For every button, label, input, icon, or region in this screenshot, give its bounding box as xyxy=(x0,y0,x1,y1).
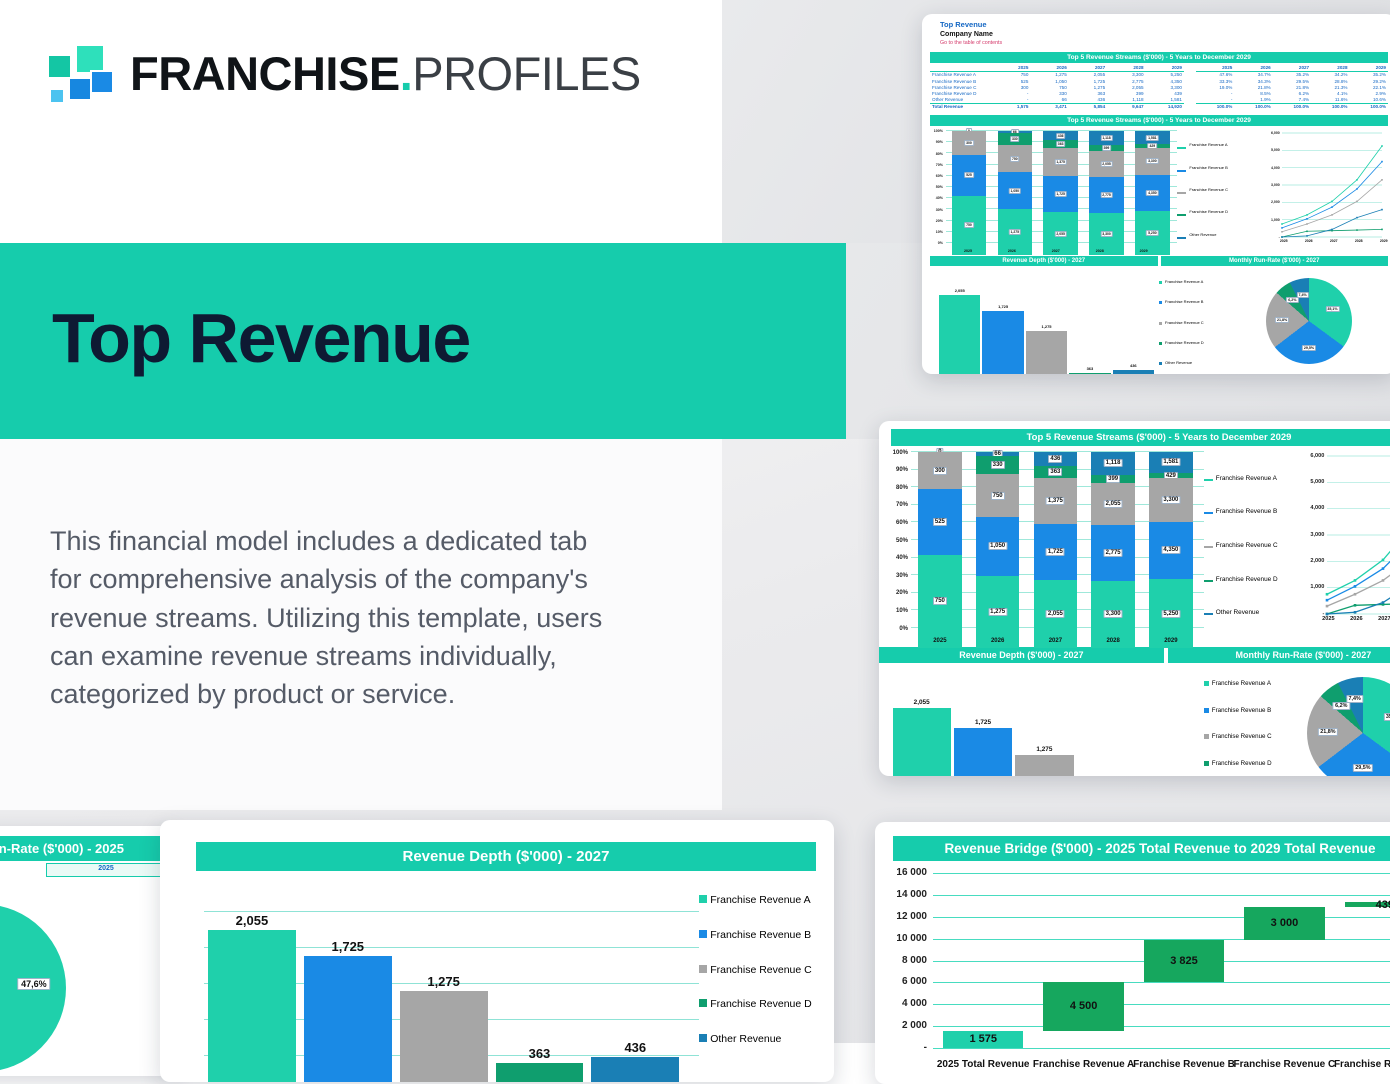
legend-label: Other Revenue xyxy=(710,1033,781,1046)
bar-value-label: 1,275 xyxy=(1009,229,1022,235)
bar-value-label: 4,350 xyxy=(1161,546,1180,554)
logo-squares-icon xyxy=(46,44,108,102)
pie-slice-label: 47,6% xyxy=(17,978,51,990)
bar-value-label: 2,055 xyxy=(236,913,269,928)
legend-item[interactable]: Franchise Revenue D xyxy=(699,998,834,1011)
bridge-y-tick: 4 000 xyxy=(875,998,927,1009)
band-revenue-depth: Revenue Depth ($'000) - 2027 xyxy=(930,256,1158,266)
line-y-tick: 1,000 xyxy=(1260,218,1280,222)
brand-logo: FRANCHISE.PROFILES xyxy=(46,44,641,102)
bar-value-label: 1,275 xyxy=(988,608,1007,616)
stacked-bar-column[interactable]: 0300525750 xyxy=(952,131,986,255)
waterfall-column[interactable]: 3 825 xyxy=(1144,873,1224,1048)
bridge-y-tick: 10 000 xyxy=(875,933,927,944)
sheet-header: Top Revenue Company Name Go to the table… xyxy=(930,20,1388,47)
brand-name-light: PROFILES xyxy=(412,47,640,100)
legend-item[interactable]: Franchise Revenue B xyxy=(1204,508,1294,516)
legend-label: Franchise Revenue C xyxy=(1189,188,1228,193)
bridge-y-tick: 12 000 xyxy=(875,911,927,922)
bridge-y-tick: - xyxy=(875,1042,927,1053)
bar-value-label: 436 xyxy=(1048,455,1062,463)
pie-year-tab[interactable]: 2025 xyxy=(46,863,166,877)
table-year-header-pct: 2026 xyxy=(1234,65,1272,72)
band-revenue-depth-zoom: Revenue Depth ($'000) - 2027 xyxy=(879,647,1164,663)
bar-value-label: 330 xyxy=(991,461,1005,469)
line-x-tick: 2027 xyxy=(1324,239,1344,243)
stacked-bar-column[interactable]: 1,5814293,3004,3505,250 xyxy=(1149,452,1192,648)
legend-item[interactable]: Franchise Revenue C xyxy=(1204,733,1305,741)
sheet-title: Top Revenue xyxy=(940,20,1388,30)
legend-item[interactable]: Franchise Revenue C xyxy=(1177,188,1259,194)
waterfall-column[interactable]: 1 575 xyxy=(943,873,1023,1048)
company-name: Company Name xyxy=(940,30,1388,39)
bar-value-label: 1,275 xyxy=(427,974,460,989)
legend-label: Franchise Revenue D xyxy=(1165,341,1204,346)
depth-bar[interactable]: 1,725 xyxy=(982,311,1023,374)
page-title: Top Revenue xyxy=(52,303,470,373)
depth-bar[interactable]: 363 xyxy=(1069,373,1110,374)
legend-item[interactable]: Franchise Revenue B xyxy=(1204,707,1305,715)
bar-value-label: 300 xyxy=(964,140,974,146)
bridge-y-tick: 8 000 xyxy=(875,955,927,966)
legend-label: Franchise Revenue D xyxy=(1216,576,1278,584)
bar-value-label: 750 xyxy=(933,597,947,605)
waterfall-column[interactable]: 3 000 xyxy=(1244,873,1324,1048)
band-monthly-runrate-zoom: Monthly Run-Rate ($'000) - 2027 xyxy=(1168,647,1390,663)
bridge-y-tick: 14 000 xyxy=(875,889,927,900)
legend-item[interactable]: Franchise Revenue B xyxy=(1159,300,1260,305)
band-revenue-table: Top 5 Revenue Streams ($'000) - 5 Years … xyxy=(930,52,1388,63)
bar-value-label: 525 xyxy=(964,172,974,178)
legend-label: Franchise Revenue C xyxy=(1165,321,1204,326)
depth-bar[interactable]: 1,275 xyxy=(1026,331,1067,374)
bar-value-label: 1,725 xyxy=(1054,191,1067,197)
dashboard-screenshot-card[interactable]: Top Revenue Company Name Go to the table… xyxy=(922,14,1390,374)
zoom-stacked-chart[interactable]: 0%10%20%30%40%50%60%70%80%90%100% 030052… xyxy=(879,448,1204,644)
legend-item[interactable]: Franchise Revenue A xyxy=(699,894,834,907)
bar-value-label: 525 xyxy=(933,518,947,526)
waterfall-value-label: 3 825 xyxy=(1170,955,1198,967)
legend-item[interactable]: Franchise Revenue C xyxy=(1159,321,1260,326)
legend-item[interactable]: Franchise Revenue A xyxy=(1159,280,1260,285)
bar-value-label: 1,118 xyxy=(1100,135,1112,141)
bar-value-label: 1,375 xyxy=(1054,159,1067,165)
waterfall-value-label: 4 500 xyxy=(1070,1000,1098,1012)
table-year-header: 2026 xyxy=(1030,65,1068,72)
stacked-bar-column[interactable]: 1,5814293,3004,3505,250 xyxy=(1135,131,1169,255)
monthly-runrate-pie-card[interactable]: Monthly Run-Rate ($'000) - 2025 2025 47,… xyxy=(0,826,176,1076)
legend-item[interactable]: Franchise Revenue D xyxy=(1204,760,1305,768)
mini-depth-bars[interactable]: 2,0551,7251,275363436 xyxy=(930,270,1159,374)
legend-item[interactable]: Franchise Revenue D xyxy=(1177,210,1259,216)
x-tick-label: 2029 xyxy=(1132,249,1156,253)
bar-value-label: 750 xyxy=(964,222,974,228)
band-bridge-title: Revenue Bridge ($'000) - 2025 Total Reve… xyxy=(893,836,1390,861)
line-x-tick: 2026 xyxy=(1299,239,1319,243)
legend-label: Other Revenue xyxy=(1189,233,1216,238)
line-y-tick: 2,000 xyxy=(1260,200,1280,204)
dashboard-zoom-card[interactable]: Top 5 Revenue Streams ($'000) - 5 Years … xyxy=(879,421,1390,776)
line-x-tick: 2027 xyxy=(1374,616,1390,622)
bar-value-label: 1,275 xyxy=(1042,324,1052,329)
table-body: Franchise Revenue A7501,2752,0553,3005,2… xyxy=(930,71,1388,110)
pie-graphic[interactable]: 47,6%33,3%19,0%0,0%0,0% xyxy=(0,904,66,1072)
line-y-tick: 5,000 xyxy=(1260,148,1280,152)
waterfall-value-label: 1 575 xyxy=(969,1033,997,1045)
legend-label: Franchise Revenue B xyxy=(1165,300,1203,305)
pie-slice-label: 29,5% xyxy=(1302,345,1316,351)
bar-value-label: 5,250 xyxy=(1161,610,1180,618)
table-year-header: 2025 xyxy=(992,65,1030,72)
legend-item[interactable]: Franchise Revenue D xyxy=(1204,576,1294,584)
bar-value-label: 2,055 xyxy=(1046,610,1065,618)
bridge-x-tick: Franchise Revenue D xyxy=(1325,1059,1390,1070)
legend-item[interactable]: Franchise Revenue B xyxy=(699,929,834,942)
depth-plot-area[interactable]: 2,0551,7251,275363436 xyxy=(160,877,699,1057)
legend-item[interactable]: Franchise Revenue A xyxy=(1204,475,1294,483)
bridge-plot-area[interactable]: -2 0004 0006 0008 00010 00012 00014 0001… xyxy=(875,867,1390,1072)
bar-value-label: 2,055 xyxy=(1100,161,1113,167)
line-x-tick: 2025 xyxy=(1318,616,1338,622)
x-tick-label: 2029 xyxy=(1159,638,1183,644)
bar-value-label: 3,300 xyxy=(1146,158,1159,164)
mini-depth-legend: Franchise Revenue AFranchise Revenue BFr… xyxy=(1159,270,1260,374)
bar-value-label: 1,581 xyxy=(1161,458,1180,466)
legend-item[interactable]: Other Revenue xyxy=(1177,233,1259,239)
legend-label: Franchise Revenue B xyxy=(1212,707,1272,715)
legend-item[interactable]: Other Revenue xyxy=(1204,609,1294,617)
x-tick-label: 2026 xyxy=(1000,249,1024,253)
page-description: This financial model includes a dedicate… xyxy=(50,522,610,714)
x-tick-label: 2028 xyxy=(1088,249,1112,253)
line-y-tick: 3,000 xyxy=(1260,183,1280,187)
bar-value-label: 1,725 xyxy=(331,939,364,954)
legend-label: Other Revenue xyxy=(1216,609,1259,617)
legend-item[interactable]: Franchise Revenue A xyxy=(1177,143,1259,149)
pie-slice-label: 7,4% xyxy=(1296,292,1308,298)
pie-year-label: 2025 xyxy=(98,865,114,872)
revenue-streams-table: 2025202620272028202920252026202720282029… xyxy=(930,65,1388,110)
brand-wordmark: FRANCHISE.PROFILES xyxy=(130,50,641,97)
bar-value-label: 363 xyxy=(1056,141,1066,147)
bar-value-label: 750 xyxy=(991,492,1005,500)
zoom-pie-chart[interactable]: 35,1%29,5%21,8%6,2%7,4% xyxy=(1305,667,1390,776)
depth-bar[interactable]: 2,055 xyxy=(939,295,980,374)
bar-value-label: 2,775 xyxy=(1104,549,1123,557)
bar-value-label: 3,300 xyxy=(1161,496,1180,504)
line-x-tick: 2025 xyxy=(1274,239,1294,243)
table-row: Franchise Revenue A7501,2752,0553,3005,2… xyxy=(930,71,1388,78)
background-top-white xyxy=(0,0,722,243)
pie-slice-label: 21,8% xyxy=(1275,317,1289,323)
line-y-tick: 5,000 xyxy=(1293,479,1324,485)
table-total-row: Total Revenue1,5753,4715,8549,64714,9201… xyxy=(930,103,1388,110)
table-header-row: 2025202620272028202920252026202720282029 xyxy=(930,65,1388,72)
bar-value-label: 1,581 xyxy=(1146,135,1159,141)
table-year-header: 2029 xyxy=(1146,65,1184,72)
depth-bar[interactable]: 436 xyxy=(1113,370,1154,374)
depth-bar[interactable]: 1,725 xyxy=(304,956,392,1082)
x-tick-label: 2025 xyxy=(956,249,980,253)
depth-legend: Franchise Revenue AFranchise Revenue BFr… xyxy=(699,877,834,1057)
line-x-tick: 2028 xyxy=(1349,239,1369,243)
line-y-tick: 4,000 xyxy=(1293,505,1324,511)
legend-label: Franchise Revenue A xyxy=(710,894,810,907)
waterfall-column[interactable]: 439 xyxy=(1345,873,1390,1048)
legend-item[interactable]: Franchise Revenue A xyxy=(1204,680,1305,688)
bridge-y-tick: 6 000 xyxy=(875,976,927,987)
bar-value-label: 363 xyxy=(1048,468,1062,476)
band-revenue-chart: Top 5 Revenue Streams ($'000) - 5 Years … xyxy=(930,115,1388,126)
bar-value-label: 2,055 xyxy=(914,699,930,706)
table-row: Other Revenue-664361,1181,581-1.9%7.4%11… xyxy=(930,97,1388,104)
legend-label: Franchise Revenue C xyxy=(710,964,812,977)
x-tick-label: 2028 xyxy=(1101,638,1125,644)
bar-value-label: 2,055 xyxy=(955,288,965,293)
line-x-tick: 2026 xyxy=(1346,616,1366,622)
bar-value-label: 2,055 xyxy=(1054,231,1067,237)
zoom-depth-bars[interactable]: 2,0551,7251,275363436 xyxy=(879,667,1204,776)
legend-label: Franchise Revenue B xyxy=(1216,508,1277,516)
waterfall-value-label: 3 000 xyxy=(1271,917,1299,929)
depth-bar[interactable]: 363 xyxy=(496,1063,584,1082)
x-tick-label: 2026 xyxy=(986,638,1010,644)
stacked-bar-column[interactable]: 1,1183992,0552,7753,300 xyxy=(1091,452,1134,648)
bar-value-label: 1,275 xyxy=(1036,746,1052,753)
bar-value-label: 436 xyxy=(1056,133,1066,139)
bridge-y-tick: 2 000 xyxy=(875,1020,927,1031)
bar-value-label: 300 xyxy=(933,467,947,475)
legend-item[interactable]: Franchise Revenue C xyxy=(699,964,834,977)
bar-value-label: 363 xyxy=(1087,366,1094,371)
bar-value-label: 3,300 xyxy=(1104,610,1123,618)
band-pie-title: Monthly Run-Rate ($'000) - 2025 xyxy=(0,836,166,861)
legend-label: Franchise Revenue D xyxy=(710,998,812,1011)
bar-value-label: 363 xyxy=(529,1046,551,1061)
bar-value-label: 1,725 xyxy=(1046,548,1065,556)
brand-name-bold: FRANCHISE xyxy=(130,47,400,100)
legend-label: Franchise Revenue D xyxy=(1189,210,1228,215)
depth-bar[interactable]: 2,055 xyxy=(208,930,296,1082)
zoom-line-chart[interactable]: -1,0002,0003,0004,0005,0006,000202520262… xyxy=(1293,448,1390,644)
legend-label: Franchise Revenue A xyxy=(1189,143,1227,148)
stacked-bar-column[interactable]: 1,1183992,0552,7753,300 xyxy=(1089,131,1123,255)
mini-stacked-legend: Franchise Revenue AFranchise Revenue BFr… xyxy=(1177,129,1259,253)
line-y-tick: 1,000 xyxy=(1293,584,1324,590)
legend-item[interactable]: Franchise Revenue C xyxy=(1204,542,1294,550)
brand-name-dot: . xyxy=(400,47,413,100)
legend-label: Franchise Revenue A xyxy=(1165,280,1203,285)
bar-value-label: 5,250 xyxy=(1146,230,1159,236)
depth-bar[interactable]: 1,275 xyxy=(400,991,488,1082)
table-year-header-pct: 2027 xyxy=(1273,65,1311,72)
depth-bar[interactable]: 436 xyxy=(591,1057,679,1082)
band-revenue-chart-zoom: Top 5 Revenue Streams ($'000) - 5 Years … xyxy=(891,429,1390,446)
table-year-header-pct: 2025 xyxy=(1196,65,1234,72)
pie-graphic[interactable] xyxy=(1307,677,1390,776)
depth-bar[interactable]: 1,275 xyxy=(1015,755,1073,776)
depth-bar[interactable]: 1,725 xyxy=(954,728,1012,776)
line-y-tick: 6,000 xyxy=(1260,131,1280,135)
pie-slice-label: 29,5% xyxy=(1353,764,1373,772)
stacked-bar-column[interactable]: 4363631,3751,7252,055 xyxy=(1043,131,1077,255)
bar-value-label: 3,300 xyxy=(1100,231,1113,237)
bar-value-label: 2,775 xyxy=(1100,192,1113,198)
legend-label: Franchise Revenue B xyxy=(710,929,811,942)
line-x-tick: 2029 xyxy=(1374,239,1390,243)
bar-value-label: 1,375 xyxy=(1046,497,1065,505)
legend-label: Franchise Revenue C xyxy=(1216,542,1278,550)
legend-label: Other Revenue xyxy=(1165,361,1192,366)
bar-value-label: 4,350 xyxy=(1146,190,1159,196)
legend-label: Franchise Revenue B xyxy=(1189,166,1227,171)
bar-value-label: 750 xyxy=(1010,156,1020,162)
line-y-tick: 6,000 xyxy=(1293,453,1324,459)
pie-slice-label: 21,8% xyxy=(1318,728,1338,736)
table-of-contents-link[interactable]: Go to the table of contents xyxy=(940,40,1388,47)
legend-label: Franchise Revenue A xyxy=(1212,680,1271,688)
zoom-stacked-legend: Franchise Revenue AFranchise Revenue BFr… xyxy=(1204,448,1294,644)
revenue-bridge-card[interactable]: Revenue Bridge ($'000) - 2025 Total Reve… xyxy=(875,822,1390,1084)
bar-value-label: 2,055 xyxy=(1104,500,1123,508)
stacked-bar-column[interactable]: 663307501,0501,275 xyxy=(976,452,1019,648)
legend-item[interactable]: Franchise Revenue B xyxy=(1177,166,1259,172)
table-year-header-pct: 2029 xyxy=(1350,65,1388,72)
table-year-header: 2028 xyxy=(1107,65,1145,72)
legend-label: Franchise Revenue C xyxy=(1212,733,1272,741)
line-y-tick: 3,000 xyxy=(1293,532,1324,538)
pie-slice-label: 35,1% xyxy=(1325,306,1339,312)
bar-value-label: 436 xyxy=(624,1040,646,1055)
bar-value-label: 1,050 xyxy=(1009,188,1022,194)
bar-value-label: 1,725 xyxy=(998,304,1008,309)
bar-value-label: 436 xyxy=(1130,363,1137,368)
stacked-bar-column[interactable]: 4363631,3751,7252,055 xyxy=(1034,452,1077,648)
x-tick-label: 2025 xyxy=(928,638,952,644)
pie-slice-label: 7,4% xyxy=(1346,695,1363,703)
waterfall-value-label: 439 xyxy=(1376,899,1390,911)
waterfall-column[interactable]: 4 500 xyxy=(1043,873,1123,1048)
bar-value-label: 1,118 xyxy=(1104,459,1123,467)
pie-slice-label: 35,1% xyxy=(1383,713,1390,721)
legend-label: Franchise Revenue D xyxy=(1212,760,1272,768)
line-y-tick: 4,000 xyxy=(1260,166,1280,170)
depth-bar[interactable]: 2,055 xyxy=(893,708,951,776)
bar-value-label: 1,725 xyxy=(975,719,991,726)
bar-value-label: 1,050 xyxy=(988,542,1007,550)
x-tick-label: 2027 xyxy=(1044,249,1068,253)
band-depth-title: Revenue Depth ($'000) - 2027 xyxy=(196,842,816,871)
bridge-y-tick: 16 000 xyxy=(875,867,927,878)
x-tick-label: 2027 xyxy=(1043,638,1067,644)
band-monthly-runrate: Monthly Run-Rate ($'000) - 2027 xyxy=(1161,256,1389,266)
legend-label: Franchise Revenue A xyxy=(1216,475,1277,483)
legend-item[interactable]: Other Revenue xyxy=(699,1033,834,1046)
legend-item[interactable]: Other Revenue xyxy=(1159,361,1260,366)
table-year-header-pct: 2028 xyxy=(1311,65,1349,72)
bar-value-label: 330 xyxy=(1010,136,1020,142)
mini-pie-chart[interactable]: 35,1%29,5%21,8%6,2%7,4% xyxy=(1260,270,1388,374)
mini-stacked-chart[interactable]: 0%10%20%30%40%50%60%70%80%90%100% 030052… xyxy=(930,129,1177,253)
line-y-tick: 2,000 xyxy=(1293,558,1324,564)
bar-value-label: 399 xyxy=(1106,475,1120,483)
stacked-bar-column[interactable]: 663307501,0501,275 xyxy=(998,131,1032,255)
stacked-bar-column[interactable]: 0300525750 xyxy=(918,452,961,648)
mini-line-chart[interactable]: -1,0002,0003,0004,0005,0006,000202520262… xyxy=(1260,129,1388,253)
legend-item[interactable]: Franchise Revenue D xyxy=(1159,341,1260,346)
table-year-header: 2027 xyxy=(1069,65,1107,72)
zoom-depth-legend: Franchise Revenue AFranchise Revenue BFr… xyxy=(1204,667,1305,776)
